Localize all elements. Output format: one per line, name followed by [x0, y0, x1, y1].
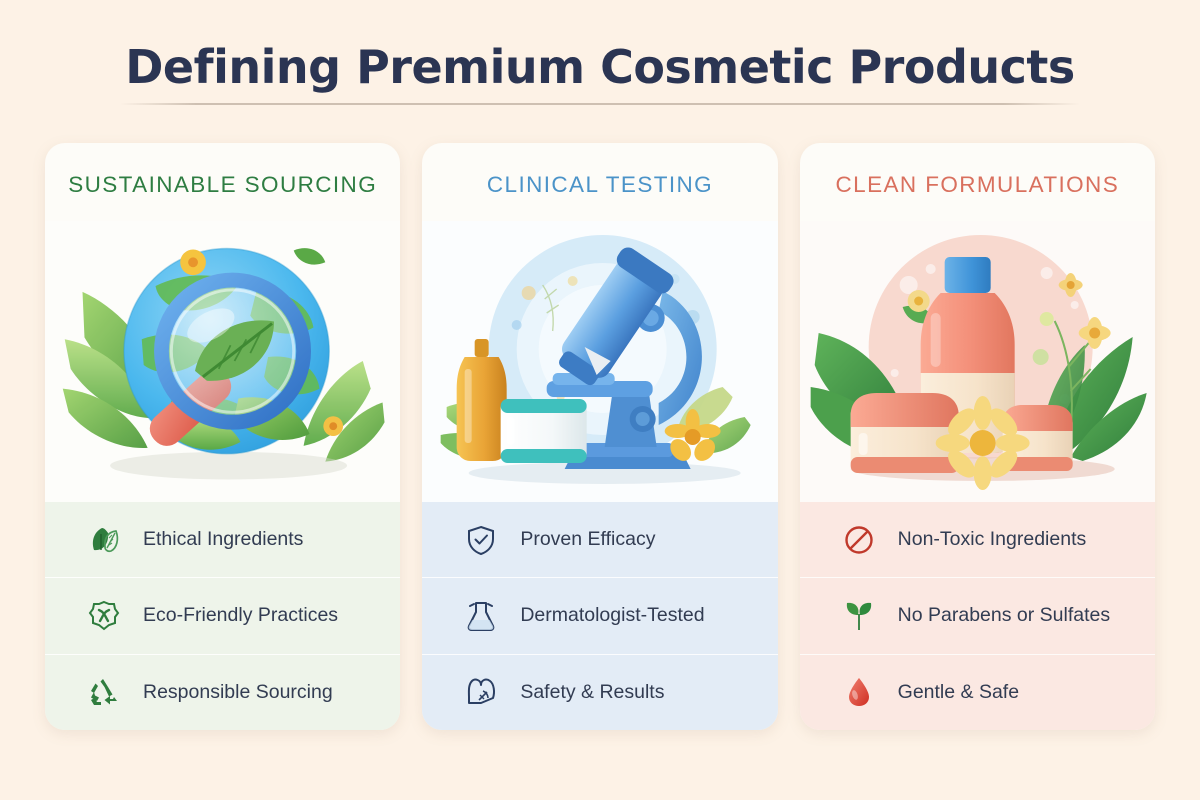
recycle-icon	[87, 675, 121, 709]
feature-list-clinical-testing: Proven Efficacy Dermatologist-Tested Saf…	[422, 502, 777, 730]
feature-list-clean-formulations: Non-Toxic Ingredients No Parabens or Sul…	[800, 502, 1155, 730]
card-clean-formulations[interactable]: CLEAN FORMULATIONS	[800, 143, 1155, 730]
earth-globe-magnifying-glass-illustration	[45, 221, 400, 502]
heart-shield-icon	[464, 675, 498, 709]
list-item[interactable]: Responsible Sourcing	[45, 654, 400, 730]
illustration-earth-globe-magnifier	[45, 221, 400, 502]
feature-list-sustainable-sourcing: Ethical Ingredients Eco-Friendly Practic…	[45, 502, 400, 730]
list-item[interactable]: Gentle & Safe	[800, 654, 1155, 730]
page-title: Defining Premium Cosmetic Products	[0, 40, 1200, 94]
card-heading-clinical-testing: CLINICAL TESTING	[422, 143, 777, 221]
list-item[interactable]: Eco-Friendly Practices	[45, 577, 400, 653]
list-item[interactable]: Dermatologist-Tested	[422, 577, 777, 653]
list-item[interactable]: No Parabens or Sulfates	[800, 577, 1155, 653]
illustration-cosmetic-bottles-flowers	[800, 221, 1155, 502]
cards-container: SUSTAINABLE SOURCING	[45, 143, 1155, 730]
list-item-label: No Parabens or Sulfates	[898, 604, 1110, 627]
list-item[interactable]: Non-Toxic Ingredients	[800, 502, 1155, 577]
flask-icon	[464, 599, 498, 633]
list-item-label: Non-Toxic Ingredients	[898, 528, 1087, 551]
list-item-label: Ethical Ingredients	[143, 528, 303, 551]
list-item-label: Responsible Sourcing	[143, 681, 333, 704]
list-item[interactable]: Ethical Ingredients	[45, 502, 400, 577]
list-item-label: Dermatologist-Tested	[520, 604, 704, 627]
microscope-illustration	[422, 221, 777, 502]
leaf-icon	[842, 599, 876, 633]
title-underline-divider	[120, 103, 1080, 105]
cosmetic-products-illustration	[800, 221, 1155, 502]
shield-check-icon	[464, 523, 498, 557]
list-item-label: Gentle & Safe	[898, 681, 1019, 704]
list-item-label: Proven Efficacy	[520, 528, 655, 551]
card-heading-clean-formulations: CLEAN FORMULATIONS	[800, 143, 1155, 221]
prohibition-icon	[842, 523, 876, 557]
list-item[interactable]: Proven Efficacy	[422, 502, 777, 577]
illustration-microscope-lab	[422, 221, 777, 502]
yellow-flower	[180, 249, 206, 275]
droplet-icon	[842, 675, 876, 709]
herb-leaves-icon	[87, 523, 121, 557]
card-clinical-testing[interactable]: CLINICAL TESTING	[422, 143, 777, 730]
list-item-label: Safety & Results	[520, 681, 664, 704]
card-heading-sustainable-sourcing: SUSTAINABLE SOURCING	[45, 143, 400, 221]
eco-badge-icon	[87, 599, 121, 633]
list-item-label: Eco-Friendly Practices	[143, 604, 338, 627]
card-sustainable-sourcing[interactable]: SUSTAINABLE SOURCING	[45, 143, 400, 730]
list-item[interactable]: Safety & Results	[422, 654, 777, 730]
